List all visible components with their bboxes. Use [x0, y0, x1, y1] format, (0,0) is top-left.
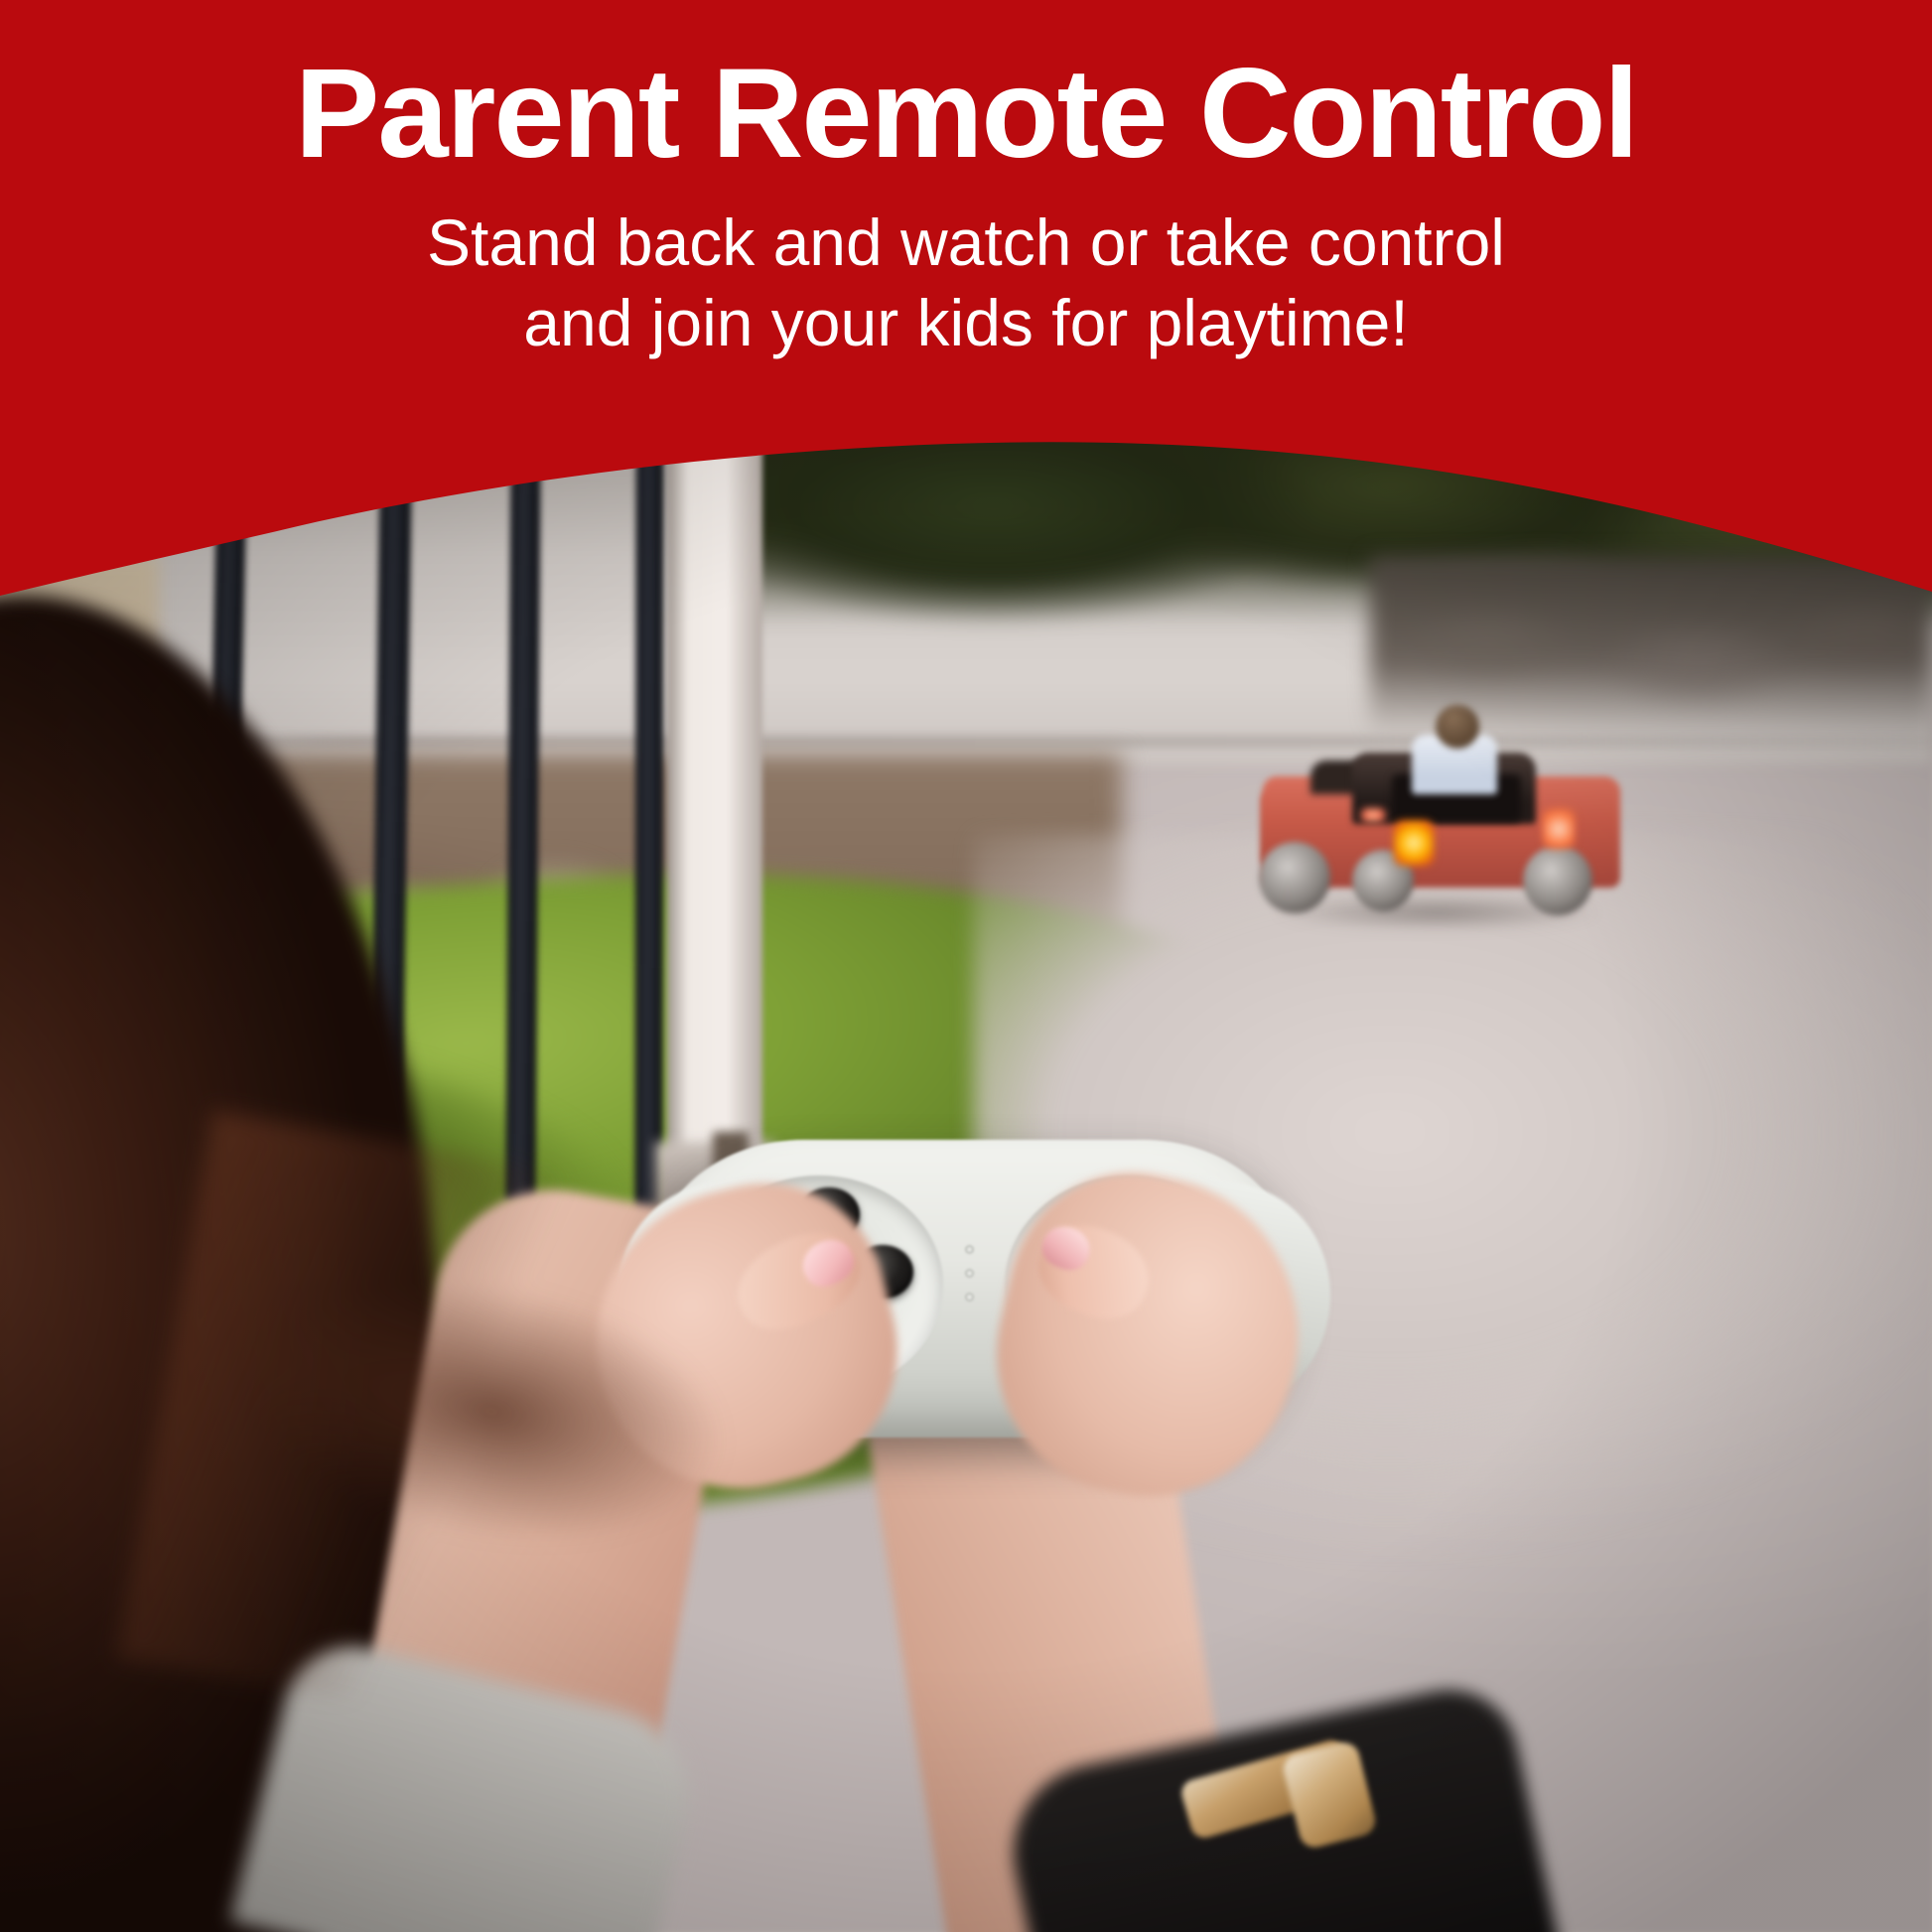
- headline-text-block: Parent Remote Control Stand back and wat…: [0, 0, 1932, 362]
- subtitle-line-1: Stand back and watch or take control: [0, 203, 1932, 283]
- product-feature-image: Parent Remote Control Stand back and wat…: [0, 0, 1932, 1932]
- page-subtitle: Stand back and watch or take control and…: [0, 181, 1932, 362]
- page-title: Parent Remote Control: [0, 0, 1932, 181]
- subtitle-line-2: and join your kids for playtime!: [0, 283, 1932, 363]
